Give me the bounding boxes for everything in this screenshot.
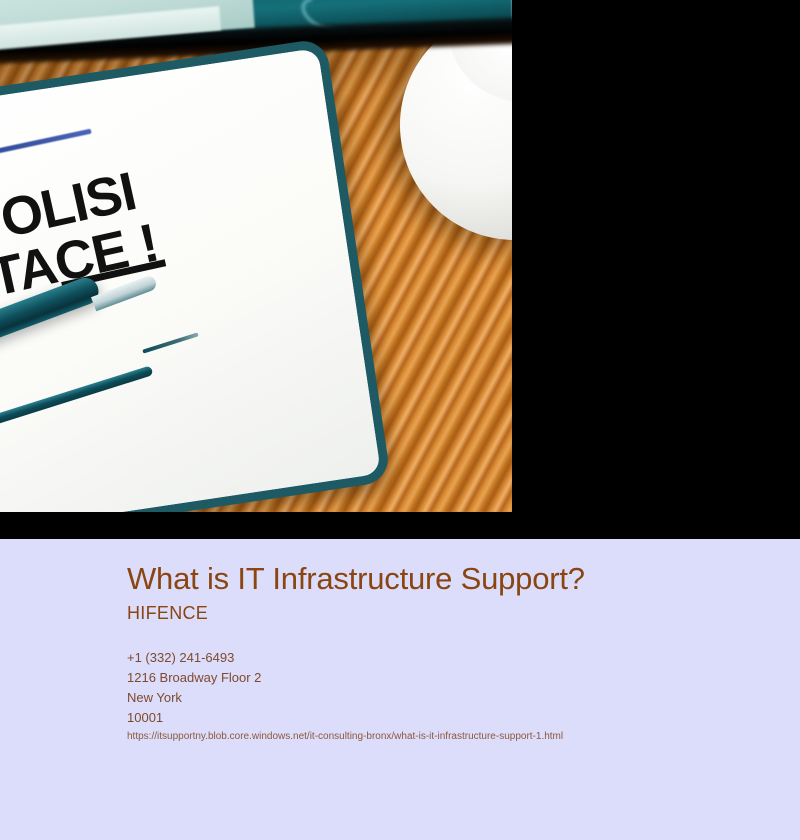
contact-street: 1216 Broadway Floor 2	[127, 668, 261, 688]
contact-block: +1 (332) 241-6493 1216 Broadway Floor 2 …	[127, 648, 261, 728]
brand-name: HIFENCE	[127, 603, 208, 624]
page-title: What is IT Infrastructure Support?	[127, 561, 585, 597]
contact-city: New York	[127, 688, 261, 708]
hero-photo: ONTOLISI ISRTACE !	[0, 0, 512, 512]
pen-secondary	[0, 365, 153, 439]
notepad-tablet: ONTOLISI ISRTACE !	[0, 38, 391, 512]
hero-letterbox-band: ONTOLISI ISRTACE !	[0, 0, 800, 539]
article-content: What is IT Infrastructure Support? HIFEN…	[0, 539, 800, 840]
blue-rule-line	[0, 129, 92, 173]
pen-secondary-tip	[142, 332, 199, 353]
contact-postal-code: 10001	[127, 708, 261, 728]
notepad-page: ONTOLISI ISRTACE !	[0, 48, 381, 512]
contact-phone[interactable]: +1 (332) 241-6493	[127, 648, 261, 668]
source-url-link[interactable]: https://itsupportny.blob.core.windows.ne…	[127, 731, 563, 742]
